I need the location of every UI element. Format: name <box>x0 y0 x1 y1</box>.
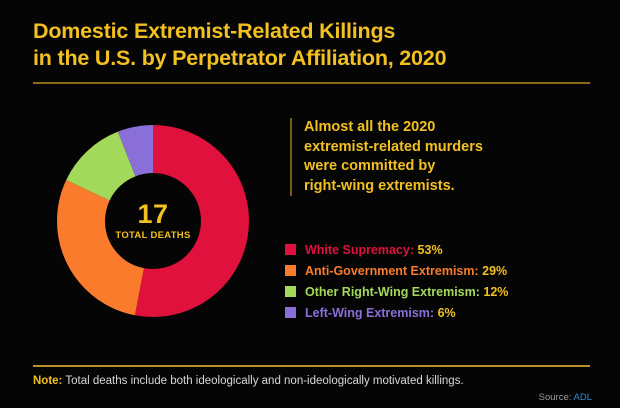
legend-percent: 6% <box>438 306 456 320</box>
footer-note: Note: Total deaths include both ideologi… <box>33 375 464 387</box>
legend-item-white-supremacy: White Supremacy: 53% <box>285 239 508 260</box>
source-link-adl[interactable]: ADL <box>574 392 592 403</box>
callout-line-2: extremist-related murders <box>304 138 483 158</box>
legend-label: Other Right-Wing Extremism: <box>305 285 480 299</box>
legend-label: Left-Wing Extremism: <box>305 306 434 320</box>
chart-legend: White Supremacy: 53% Anti-Government Ext… <box>285 239 508 323</box>
legend-item-other-right-wing-extremism: Other Right-Wing Extremism: 12% <box>285 281 508 302</box>
infographic-root: Domestic Extremist-Related Killings in t… <box>0 0 620 408</box>
footer-source-label: Source: <box>539 392 572 403</box>
legend-text-anti-government-extremism: Anti-Government Extremism: 29% <box>305 264 507 278</box>
donut-chart-svg <box>57 125 249 317</box>
legend-item-left-wing-extremism: Left-Wing Extremism: 6% <box>285 302 508 323</box>
page-title: Domestic Extremist-Related Killings in t… <box>33 18 593 72</box>
callout-line-3: were committed by <box>304 157 483 177</box>
legend-swatch-icon <box>285 265 296 276</box>
title-line-1: Domestic Extremist-Related Killings <box>33 18 593 45</box>
legend-swatch-icon <box>285 244 296 255</box>
legend-item-anti-government-extremism: Anti-Government Extremism: 29% <box>285 260 508 281</box>
callout-line-4: right-wing extremists. <box>304 177 483 197</box>
footer-divider <box>33 365 590 367</box>
legend-swatch-icon <box>285 307 296 318</box>
legend-text-other-right-wing-extremism: Other Right-Wing Extremism: 12% <box>305 285 508 299</box>
legend-percent: 53% <box>418 243 443 257</box>
callout-quote: Almost all the 2020 extremist-related mu… <box>290 118 483 196</box>
title-line-2: in the U.S. by Perpetrator Affiliation, … <box>33 45 593 72</box>
callout-line-1: Almost all the 2020 <box>304 118 483 138</box>
footer-source: Source: ADL <box>539 392 592 403</box>
footer-note-text: Total deaths include both ideologically … <box>62 375 463 387</box>
donut-chart: 17 TOTAL DEATHS <box>57 125 249 317</box>
legend-label: White Supremacy: <box>305 243 414 257</box>
legend-text-white-supremacy: White Supremacy: 53% <box>305 243 443 257</box>
legend-text-left-wing-extremism: Left-Wing Extremism: 6% <box>305 306 456 320</box>
legend-swatch-icon <box>285 286 296 297</box>
footer-note-label: Note: <box>33 375 62 387</box>
title-divider <box>33 82 590 84</box>
legend-label: Anti-Government Extremism: <box>305 264 479 278</box>
legend-percent: 29% <box>482 264 507 278</box>
legend-percent: 12% <box>483 285 508 299</box>
